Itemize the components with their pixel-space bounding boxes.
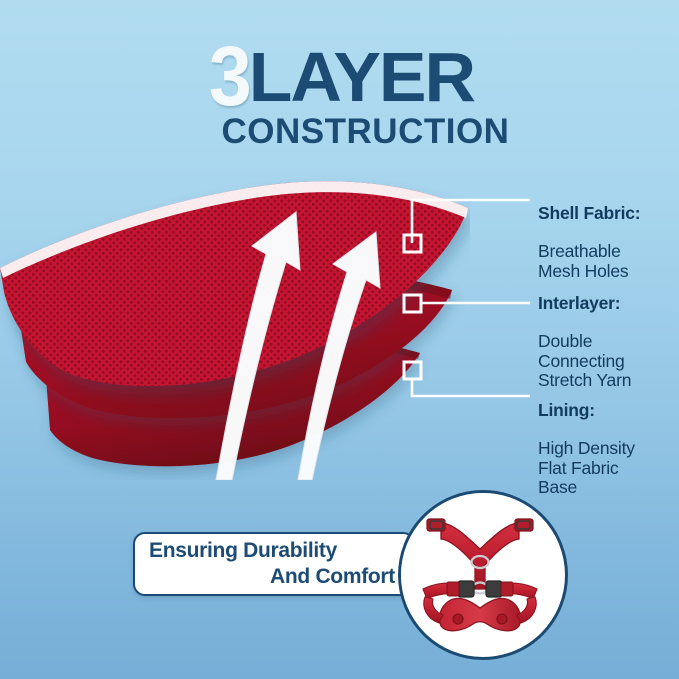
caption-line-2: And Comfort [149, 564, 395, 590]
caption-box: Ensuring Durability And Comfort [133, 532, 415, 596]
callout-lining: Lining: High Density Flat Fabric Base [538, 383, 635, 516]
callout-heading: Interlayer: [538, 294, 631, 314]
right-rivet [497, 614, 507, 624]
left-buckle-strap [447, 582, 459, 596]
right-buckle-icon [486, 581, 502, 597]
callout-heading: Shell Fabric: [538, 204, 640, 224]
callout-body: High Density Flat Fabric Base [538, 439, 635, 498]
right-buckle-strap [501, 582, 513, 596]
left-buckle-icon [458, 581, 474, 597]
title-word-construction: CONSTRUCTION [52, 112, 679, 152]
title-main-row: 3 LAYER [0, 34, 679, 118]
fabric-layer-stack [0, 150, 470, 480]
red-dog-harness-icon [401, 493, 559, 651]
title-word-layer: LAYER [249, 42, 474, 112]
callout-heading: Lining: [538, 401, 635, 421]
title-numeral: 3 [208, 34, 247, 118]
caption-line-1: Ensuring Durability [149, 538, 395, 564]
left-rivet [453, 614, 463, 624]
page-title: 3 LAYER CONSTRUCTION [0, 34, 679, 152]
product-image-circle [398, 490, 568, 660]
infographic-poster: 3 LAYER CONSTRUCTION [0, 0, 679, 679]
